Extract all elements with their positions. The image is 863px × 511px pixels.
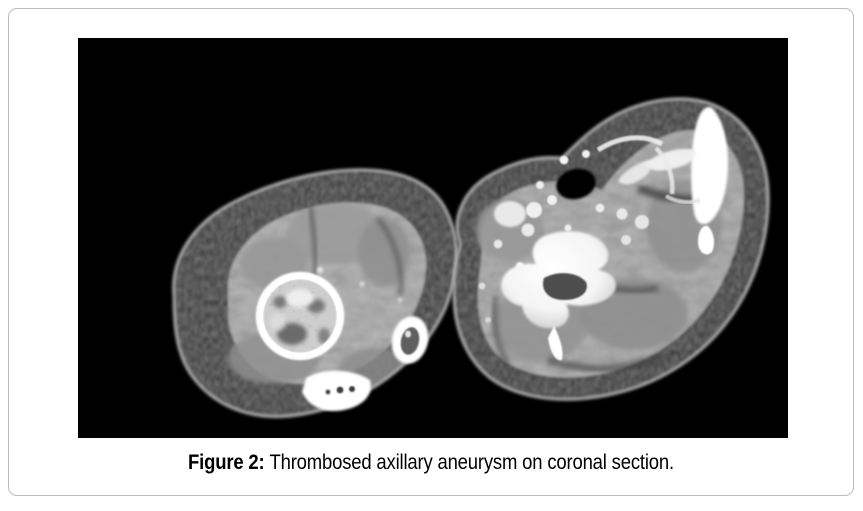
figure-card: Contrast-enhanced CT cross-section throu… bbox=[8, 8, 854, 496]
figure-caption: Figure 2: Thrombosed axillary aneurysm o… bbox=[60, 449, 803, 477]
ct-scan-image: Contrast-enhanced CT cross-section throu… bbox=[78, 38, 788, 438]
figure-caption-label: Figure 2: bbox=[188, 451, 264, 474]
thrombosed-aneurysm bbox=[256, 272, 344, 360]
figure-page: Contrast-enhanced CT cross-section throu… bbox=[0, 0, 863, 511]
figure-caption-text: Thrombosed axillary aneurysm on coronal … bbox=[269, 451, 673, 474]
ct-image-frame: Contrast-enhanced CT cross-section throu… bbox=[78, 38, 788, 438]
